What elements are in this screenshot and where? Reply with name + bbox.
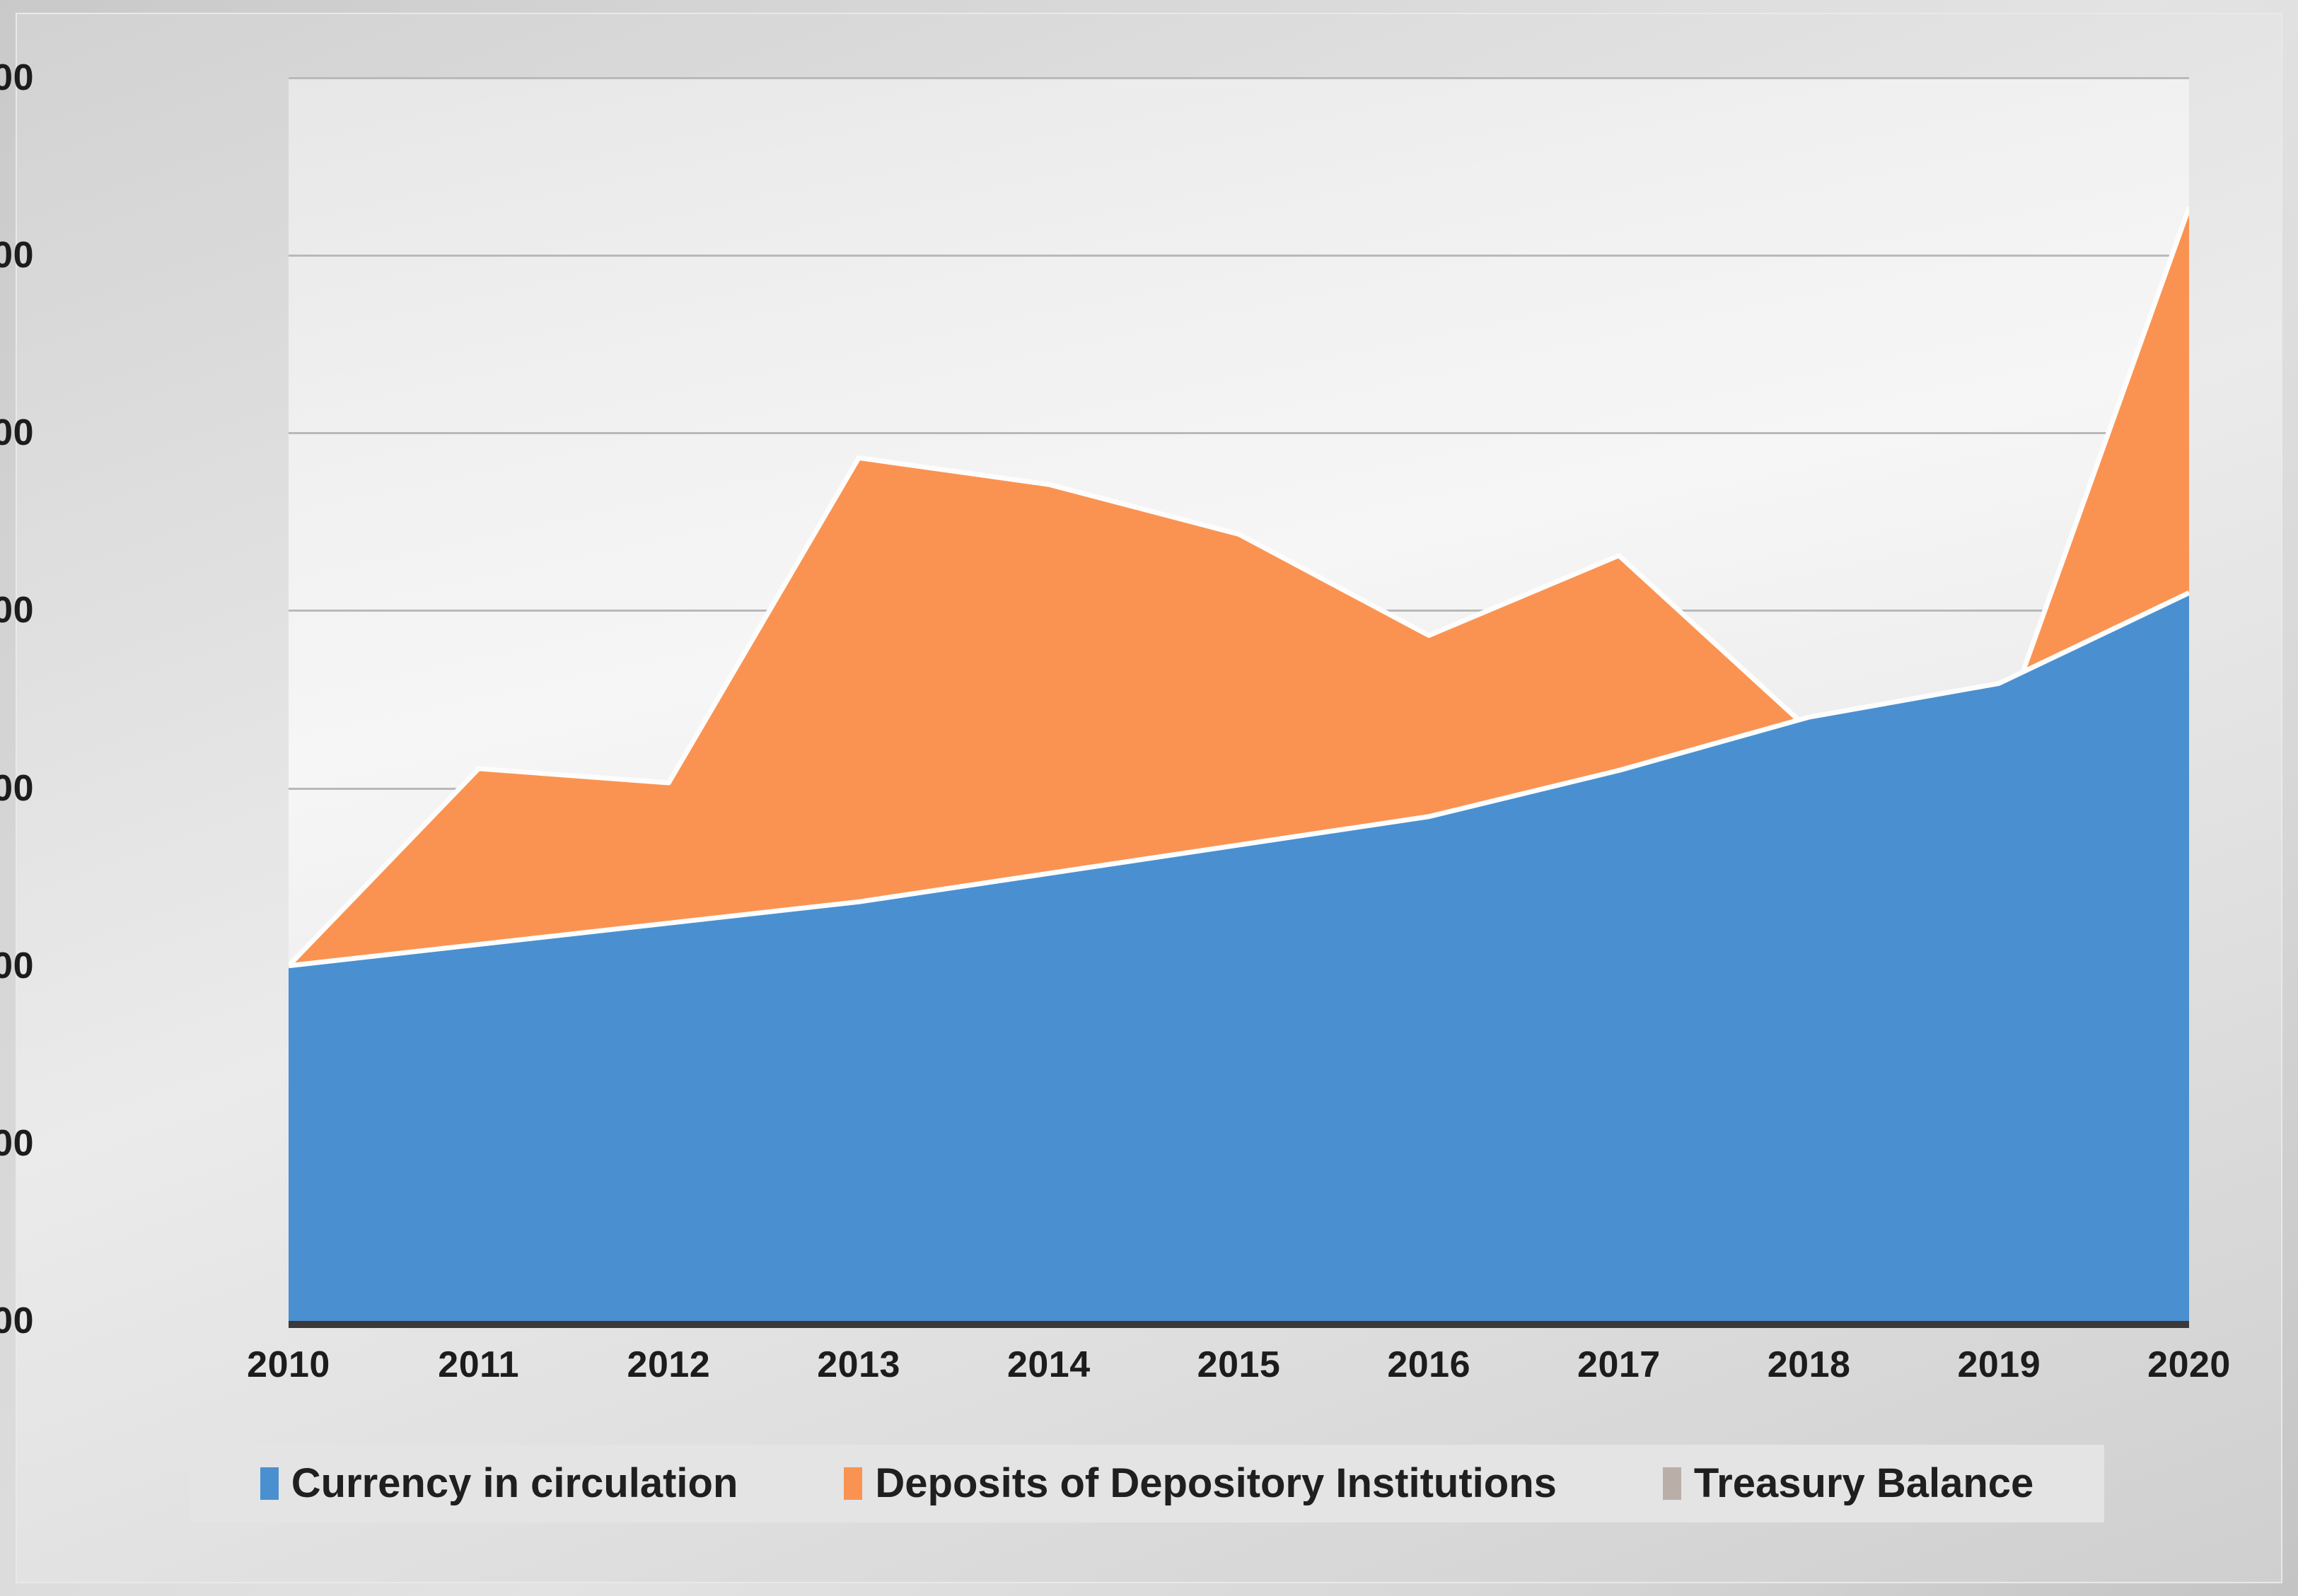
y-axis-tick-label: 3,500,000.00 bbox=[0, 57, 34, 99]
legend-item[interactable]: Currency in circulation bbox=[260, 1463, 738, 1504]
x-axis-baseline bbox=[289, 1321, 2189, 1328]
legend-label: Currency in circulation bbox=[291, 1463, 738, 1504]
chart-legend: Currency in circulationDeposits of Depos… bbox=[190, 1445, 2104, 1522]
x-axis-tick-label: 2014 bbox=[1007, 1344, 1091, 1386]
y-axis-tick-label: 3,000,000.00 bbox=[0, 234, 34, 276]
legend-swatch-gray-icon bbox=[1663, 1467, 1681, 1500]
x-axis-tick-label: 2011 bbox=[438, 1344, 519, 1386]
legend-item[interactable]: Deposits of Depository Institutions bbox=[844, 1463, 1557, 1504]
area-chart-figure: 0.00500,000.001,000,000.001,500,000.002,… bbox=[0, 0, 2298, 1596]
y-axis-tick-label: 1,000,000.00 bbox=[0, 945, 34, 987]
series-layer bbox=[289, 78, 2189, 1321]
legend-item[interactable]: Treasury Balance bbox=[1663, 1463, 2033, 1504]
x-axis-tick-label: 2019 bbox=[1957, 1344, 2041, 1386]
x-axis-tick-label: 2015 bbox=[1197, 1344, 1281, 1386]
legend-swatch-orange-icon bbox=[844, 1467, 862, 1500]
y-axis-tick-label: 1,500,000.00 bbox=[0, 767, 34, 810]
x-axis-tick-label: 2016 bbox=[1387, 1344, 1470, 1386]
plot-area bbox=[289, 78, 2189, 1321]
y-axis-tick-label: 0.00 bbox=[0, 1300, 34, 1342]
x-axis-tick-label: 2010 bbox=[247, 1344, 330, 1386]
x-axis-tick-label: 2020 bbox=[2147, 1344, 2231, 1386]
y-axis-tick-label: 2,000,000.00 bbox=[0, 589, 34, 631]
legend-swatch-blue-icon bbox=[260, 1467, 279, 1500]
y-axis-tick-label: 500,000.00 bbox=[0, 1122, 34, 1165]
x-axis-tick-label: 2012 bbox=[627, 1344, 711, 1386]
x-axis-tick-label: 2013 bbox=[817, 1344, 900, 1386]
legend-label: Treasury Balance bbox=[1694, 1463, 2033, 1504]
legend-label: Deposits of Depository Institutions bbox=[875, 1463, 1557, 1504]
x-axis-tick-label: 2017 bbox=[1577, 1344, 1661, 1386]
y-axis-tick-label: 2,500,000.00 bbox=[0, 412, 34, 454]
x-axis-tick-label: 2018 bbox=[1768, 1344, 1851, 1386]
